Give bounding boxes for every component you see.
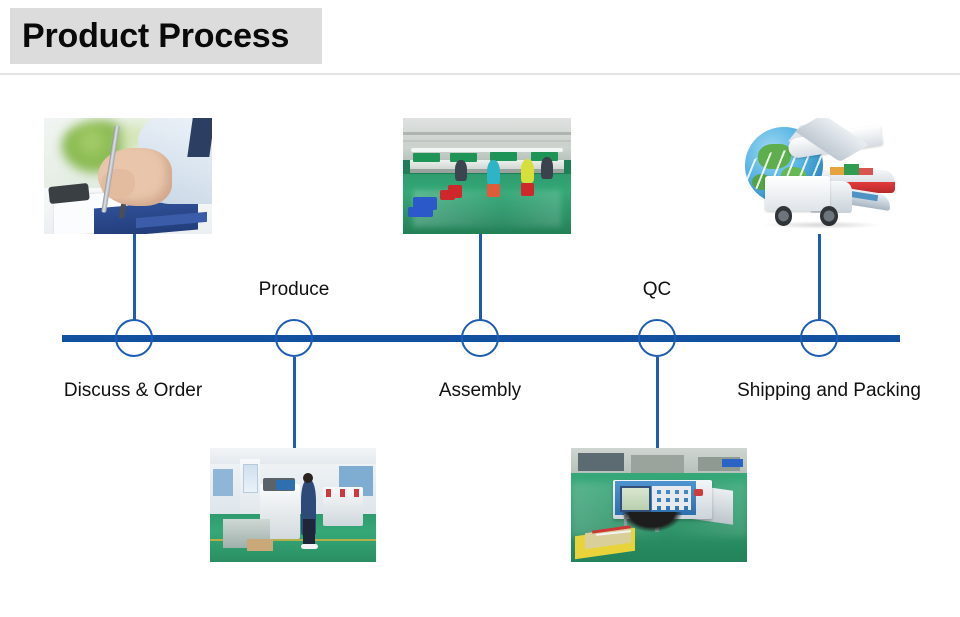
photo-shipping-packing (739, 118, 901, 234)
page-title-box: Product Process (10, 8, 322, 64)
header-divider (0, 73, 960, 75)
timeline-node-shipping-packing[interactable] (800, 319, 838, 357)
timeline-node-qc[interactable] (638, 319, 676, 357)
timeline-label-qc: QC (643, 279, 672, 301)
photo-produce (210, 448, 376, 562)
connector-qc (656, 357, 659, 449)
connector-assembly (479, 234, 482, 320)
connector-discuss-order (133, 234, 136, 320)
slide-canvas: Product Process (0, 0, 960, 617)
page-title: Product Process (10, 19, 289, 53)
connector-produce (293, 357, 296, 449)
photo-qc (571, 448, 747, 562)
timeline-node-produce[interactable] (275, 319, 313, 357)
timeline-label-assembly: Assembly (439, 380, 521, 402)
timeline-label-shipping-packing: Shipping and Packing (737, 380, 921, 402)
connector-shipping-packing (818, 234, 821, 320)
timeline-node-discuss-order[interactable] (115, 319, 153, 357)
photo-discuss-order (44, 118, 212, 234)
timeline-label-produce: Produce (259, 279, 330, 301)
photo-assembly (403, 118, 571, 234)
timeline-node-assembly[interactable] (461, 319, 499, 357)
timeline-label-discuss-order: Discuss & Order (64, 380, 202, 402)
